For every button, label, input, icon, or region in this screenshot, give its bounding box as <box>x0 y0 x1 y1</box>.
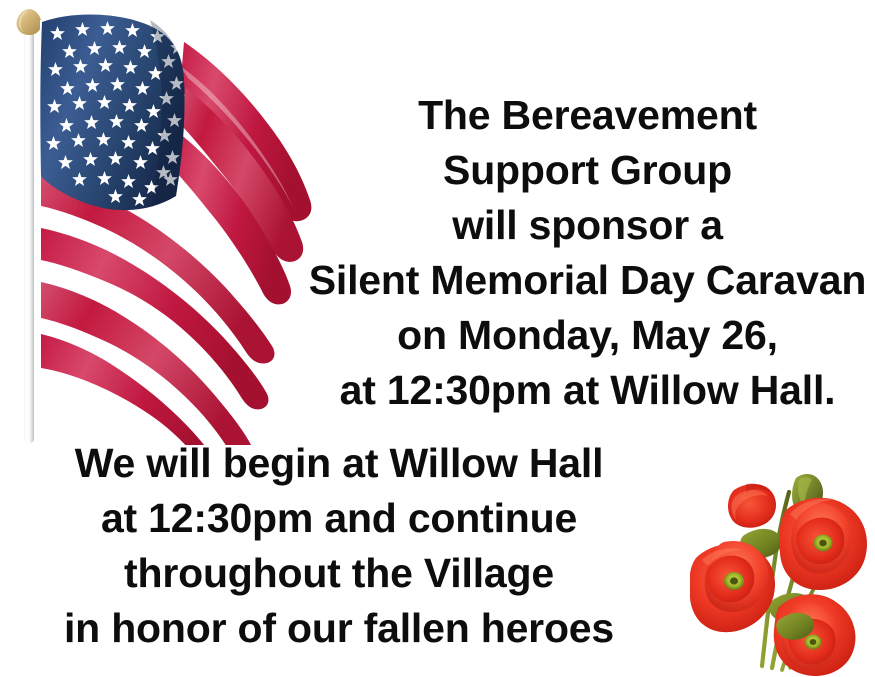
headline-line-3: will sponsor a <box>300 198 875 253</box>
headline-block: The Bereavement Support Group will spons… <box>300 88 875 418</box>
memorial-day-flyer: The Bereavement Support Group will spons… <box>0 0 875 677</box>
poppy-flower-large <box>690 541 775 632</box>
headline-line-5: on Monday, May 26, <box>300 308 875 363</box>
closing-line-1: We will begin at Willow Hall <box>28 436 650 491</box>
headline-line-2: Support Group <box>300 143 875 198</box>
closing-line-4: in honor of our fallen heroes <box>28 601 650 656</box>
poppy-flower-closed <box>728 483 776 527</box>
closing-line-3: throughout the Village <box>28 546 650 601</box>
closing-block: We will begin at Willow Hall at 12:30pm … <box>28 436 650 656</box>
american-flag-icon <box>0 0 330 445</box>
poppy-flowers-icon <box>690 440 875 677</box>
closing-line-2: at 12:30pm and continue <box>28 491 650 546</box>
flagpole-icon <box>17 9 42 443</box>
flag-canton <box>40 15 185 211</box>
headline-line-1: The Bereavement <box>300 88 875 143</box>
poppy-flower-right <box>779 498 867 590</box>
headline-line-6: at 12:30pm at Willow Hall. <box>300 363 875 418</box>
headline-line-4: Silent Memorial Day Caravan <box>300 253 875 308</box>
